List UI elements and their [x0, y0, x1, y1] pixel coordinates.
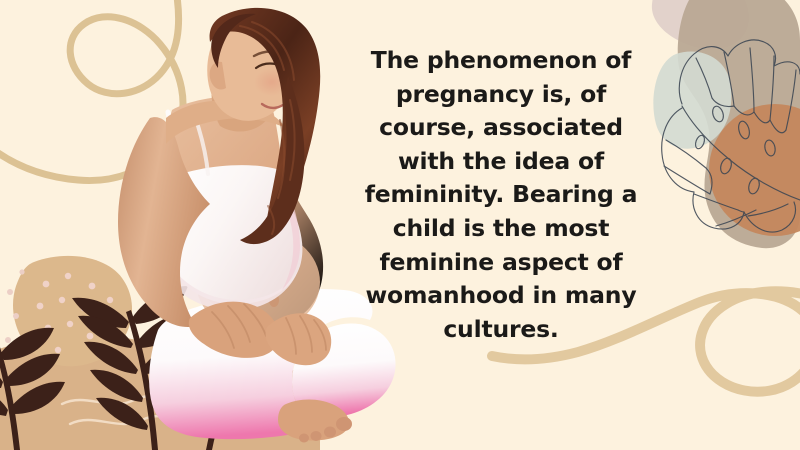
woman-figure [118, 8, 396, 443]
poster-canvas: The phenomenon of pregnancy is, of cours… [0, 0, 800, 450]
quote-text: The phenomenon of pregnancy is, of cours… [362, 44, 640, 346]
